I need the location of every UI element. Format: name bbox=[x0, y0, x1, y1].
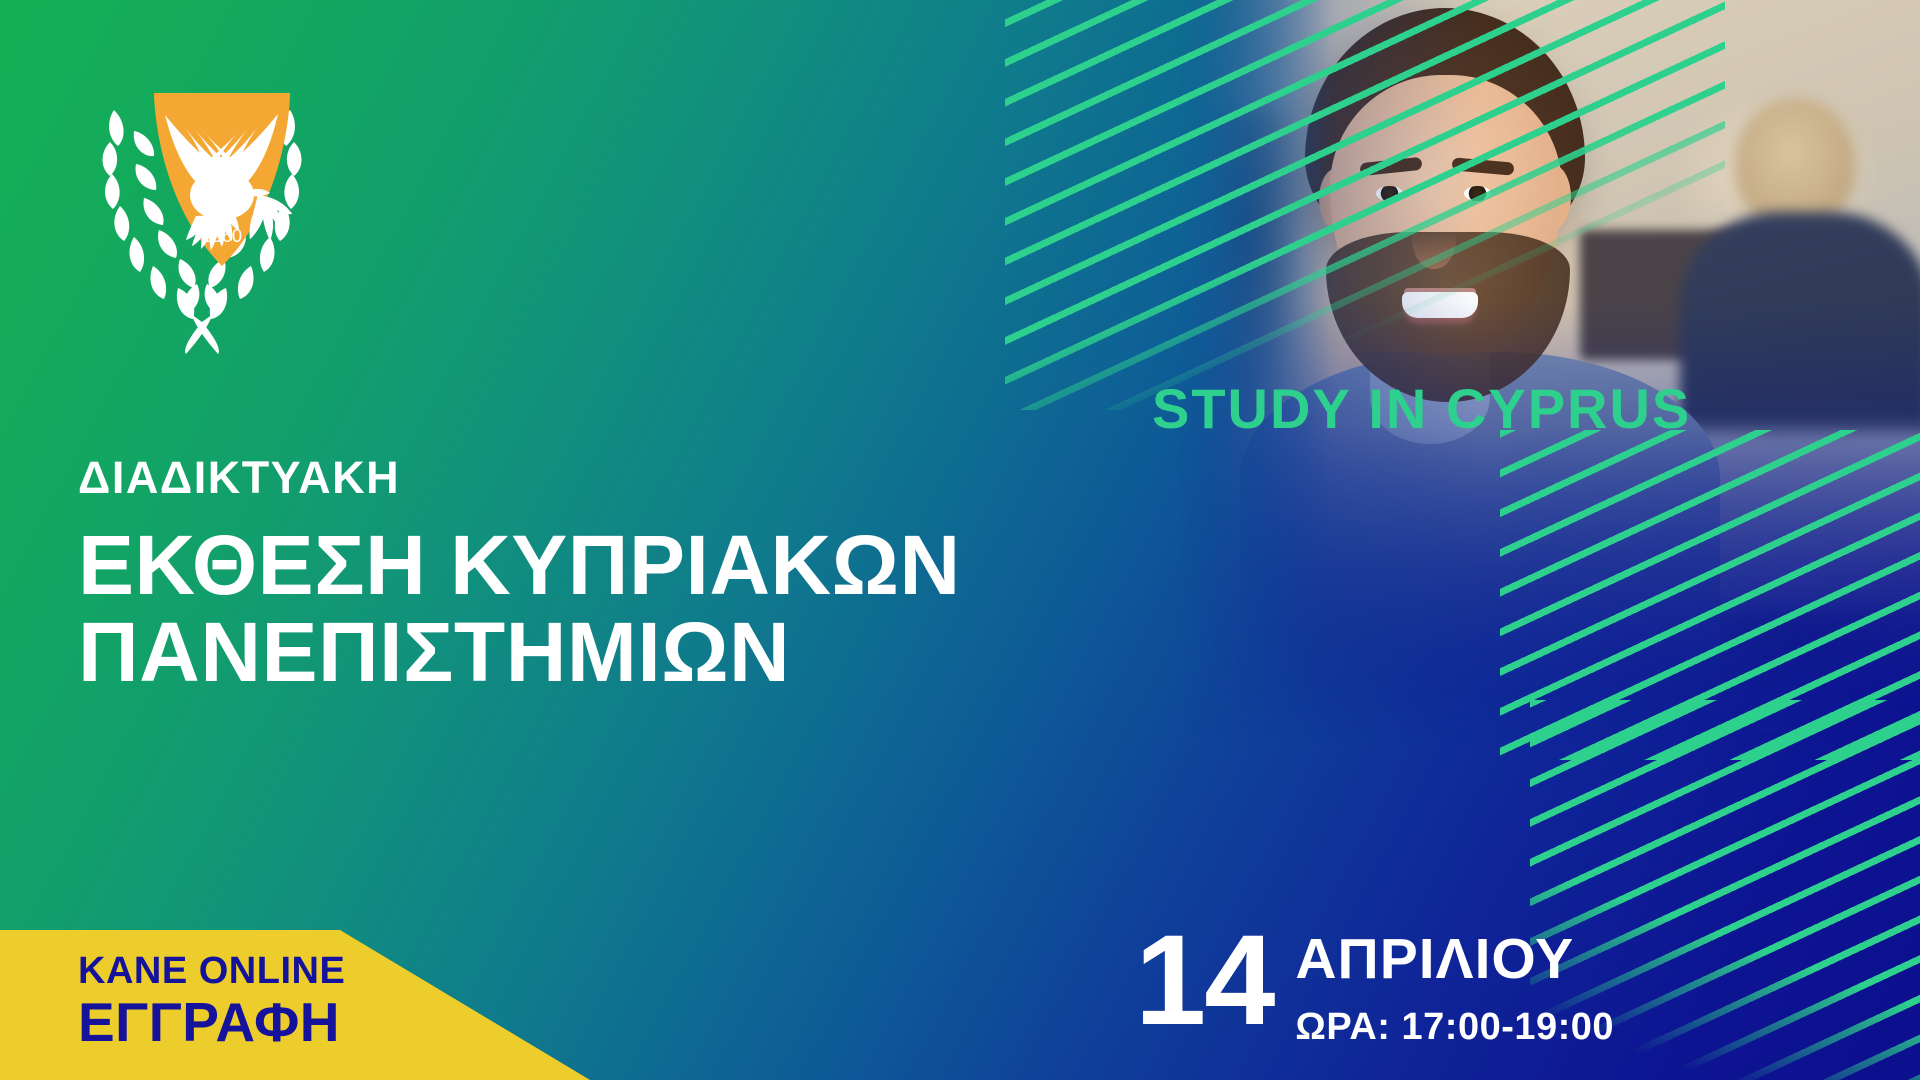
study-in-cyprus-tagline: STUDY IN CYPRUS bbox=[1152, 376, 1691, 441]
registration-label-eggrafi: ΕΓΓΡΑΦΗ bbox=[78, 994, 345, 1052]
headline-kicker: ΔΙΑΔΙΚΤΥΑΚΗ bbox=[78, 455, 961, 500]
headline-line-2: ΠΑΝΕΠΙΣΤΗΜΙΩΝ bbox=[78, 609, 961, 696]
event-day: 14 bbox=[1135, 925, 1273, 1038]
promo-banner: 1960 ΔΙΑΔΙΚΤΥΑΚΗ ΕΚΘΕΣΗ ΚΥΠΡΙΑΚΩΝ ΠΑΝΕΠΙ… bbox=[0, 0, 1920, 1080]
registration-label-online: KANE ONLINE bbox=[78, 952, 345, 992]
headline-line-1: ΕΚΘΕΣΗ ΚΥΠΡΙΑΚΩΝ bbox=[78, 522, 961, 609]
event-date-block: 14 ΑΠΡΙΛΙΟΥ ΩΡΑ: 17:00-19:00 bbox=[1135, 925, 1614, 1046]
registration-badge-text: KANE ONLINE ΕΓΓΡΑΦΗ bbox=[78, 952, 345, 1052]
event-time: ΩΡΑ: 17:00-19:00 bbox=[1295, 1008, 1614, 1046]
headline-block: ΔΙΑΔΙΚΤΥΑΚΗ ΕΚΘΕΣΗ ΚΥΠΡΙΑΚΩΝ ΠΑΝΕΠΙΣΤΗΜΙ… bbox=[78, 455, 961, 697]
registration-badge[interactable]: KANE ONLINE ΕΓΓΡΑΦΗ bbox=[0, 930, 590, 1080]
event-month: ΑΠΡΙΛΙΟΥ bbox=[1295, 931, 1614, 988]
event-date-details: ΑΠΡΙΛΙΟΥ ΩΡΑ: 17:00-19:00 bbox=[1295, 925, 1614, 1046]
emblem-year: 1960 bbox=[202, 226, 242, 246]
diagonal-stripes-top bbox=[1005, 0, 1725, 410]
coat-of-arms-icon: 1960 bbox=[52, 38, 352, 368]
